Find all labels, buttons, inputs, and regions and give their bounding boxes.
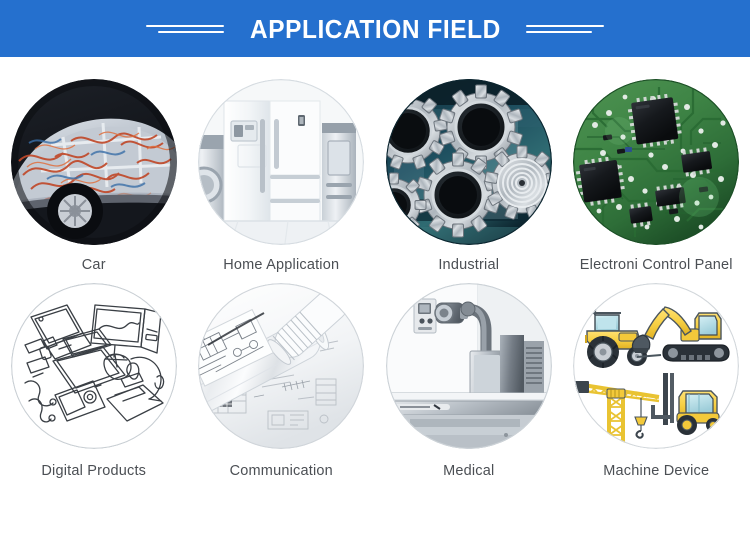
blueprint-rolls-photo	[198, 283, 364, 449]
xray-machine-photo	[386, 283, 552, 449]
grid-item-digital-products[interactable]: Digital Products	[0, 283, 188, 479]
grid-item-industrial[interactable]: Industrial	[375, 79, 563, 273]
grid-item-label: Home Application	[223, 257, 339, 273]
grid-item-machine-device[interactable]: Machine Device	[563, 283, 750, 479]
application-field-grid: Car	[0, 57, 750, 479]
home-appliances-photo	[198, 79, 364, 245]
grid-row: Car	[0, 79, 750, 273]
circuit-board-photo	[573, 79, 739, 245]
grid-item-label: Machine Device	[603, 463, 709, 479]
grid-row: Digital Products	[0, 283, 750, 479]
page-title: APPLICATION FIELD	[250, 16, 501, 42]
car-wiring-harness-photo	[11, 79, 177, 245]
grid-item-medical[interactable]: Medical	[375, 283, 563, 479]
grid-item-label: Medical	[443, 463, 494, 479]
header-decoration-left-icon	[146, 21, 224, 37]
grid-item-communication[interactable]: Communication	[188, 283, 376, 479]
construction-vehicles-illustration	[573, 283, 739, 449]
page-header-banner: APPLICATION FIELD	[0, 0, 750, 57]
grid-item-home-application[interactable]: Home Application	[188, 79, 376, 273]
grid-item-label: Digital Products	[41, 463, 146, 479]
grid-item-electronic-control-panel[interactable]: Electroni Control Panel	[563, 79, 750, 273]
header-decoration-right-icon	[526, 21, 604, 37]
digital-devices-lineart	[11, 283, 177, 449]
gears-photo	[386, 79, 552, 245]
grid-item-label: Industrial	[438, 257, 499, 273]
grid-item-label: Communication	[230, 463, 333, 479]
grid-item-car[interactable]: Car	[0, 79, 188, 273]
grid-item-label: Electroni Control Panel	[580, 257, 733, 273]
grid-item-label: Car	[82, 257, 106, 273]
